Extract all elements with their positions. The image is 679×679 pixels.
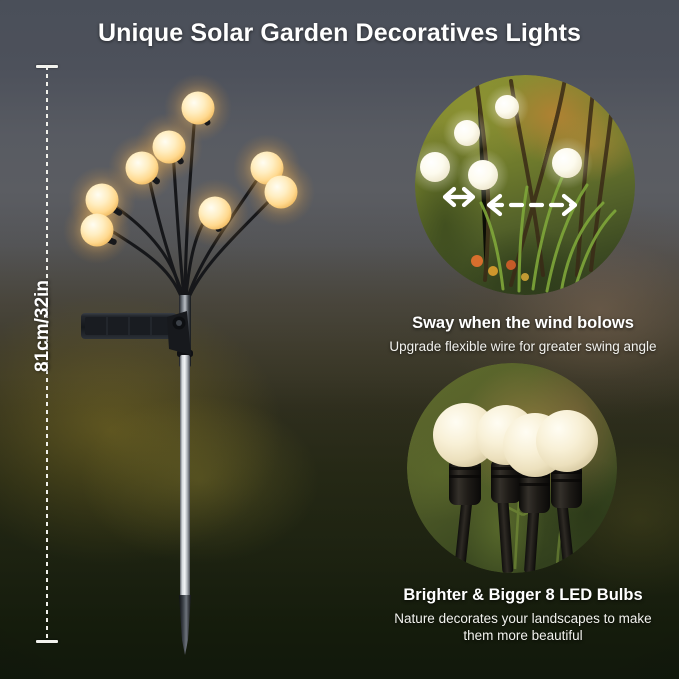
caption-sway: Sway when the wind bolows Upgrade flexib… [368, 313, 678, 355]
caption-bulbs: Brighter & Bigger 8 LED Bulbs Nature dec… [368, 585, 678, 645]
page-title: Unique Solar Garden Decoratives Lights [0, 19, 679, 48]
product-illustration [55, 55, 355, 655]
caption-sway-subtitle: Upgrade flexible wire for greater swing … [368, 338, 678, 356]
solar-panel-assembly [81, 311, 191, 355]
caption-bulbs-subtitle-line2: them more beautiful [368, 627, 678, 645]
inset-photo-bulbs [407, 363, 617, 573]
bulbs-photo-content [407, 363, 617, 573]
bracket-pivot-center [176, 320, 182, 326]
photo-bulbs [415, 85, 593, 201]
sway-photo-content [415, 75, 635, 295]
double-arrow-small-icon [445, 189, 473, 205]
inset-photo-sway [415, 75, 635, 295]
caption-bulbs-subtitle: Nature decorates your landscapes to make… [368, 610, 678, 645]
product-infographic: Unique Solar Garden Decoratives Lights 8… [0, 0, 679, 679]
caption-bulbs-subtitle-line1: Nature decorates your landscapes to make [368, 610, 678, 628]
caption-sway-title: Sway when the wind bolows [368, 313, 678, 334]
main-pole [180, 355, 190, 603]
photo-led-bulbs [433, 403, 598, 477]
ground-stake-tip [179, 595, 191, 655]
caption-bulbs-title: Brighter & Bigger 8 LED Bulbs [368, 585, 678, 606]
measurement-label: 81cm/32in [32, 266, 54, 386]
